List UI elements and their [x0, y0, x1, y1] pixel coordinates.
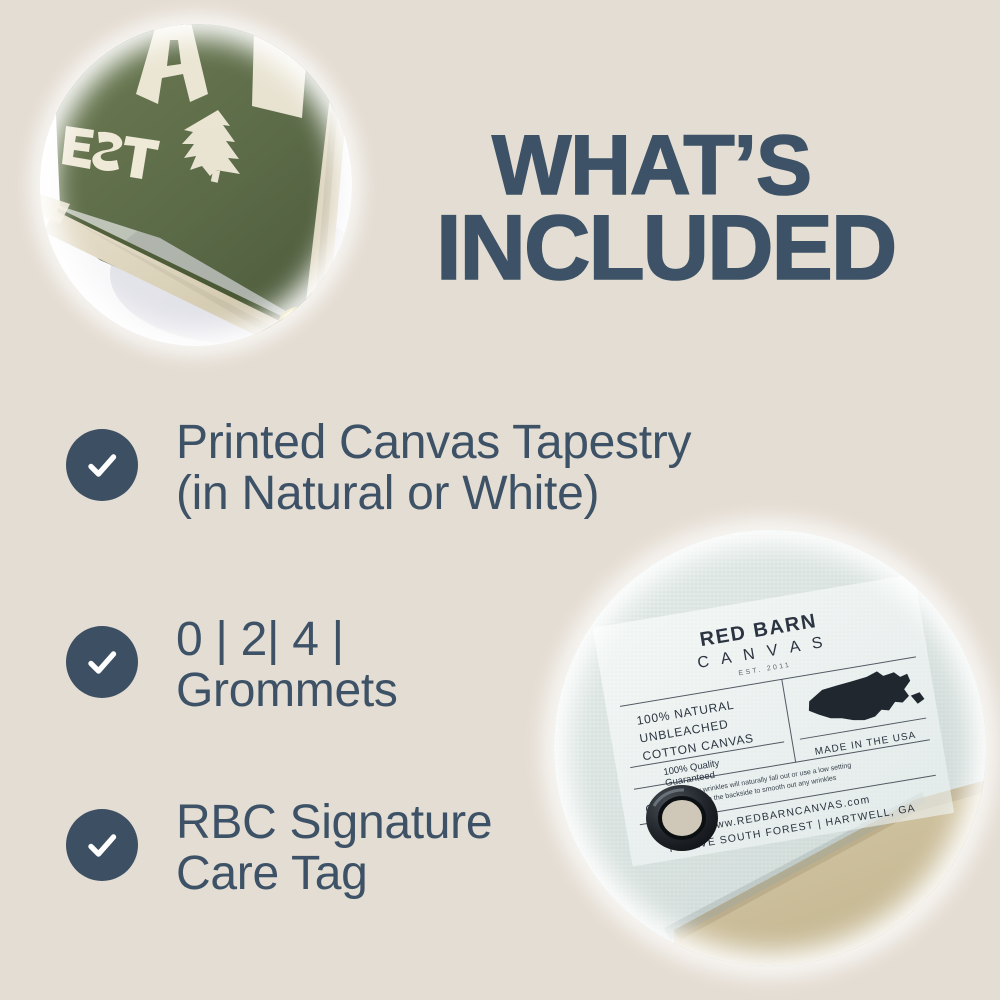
feature-label: Printed Canvas Tapestry (in Natural or W… — [176, 415, 691, 520]
care-tag-illustration: RED BARN C A N V A S EST. 2011 100% NATU… — [554, 530, 986, 966]
feature-label: 0 | 2| 4 | Grommets — [176, 612, 398, 717]
care-tag-photo: RED BARN C A N V A S EST. 2011 100% NATU… — [554, 530, 986, 966]
page-title-line-2: INCLUDED — [430, 205, 930, 291]
page-title-line-1: WHAT’S — [430, 126, 930, 205]
check-circle-icon — [66, 809, 138, 881]
page-title: WHAT’S INCLUDED — [430, 126, 930, 291]
check-circle-icon — [66, 626, 138, 698]
check-circle-icon — [66, 429, 138, 501]
feature-item-rbc-signature-care-tag: RBC Signature Care Tag — [66, 795, 492, 900]
tapestry-corner-illustration — [40, 24, 352, 346]
feature-item-grommets: 0 | 2| 4 | Grommets — [66, 612, 398, 717]
promo-graphic-canvas: WHAT’S INCLUDED Printed Canvas Tapestry … — [0, 0, 1000, 1000]
tapestry-corner-photo — [40, 24, 352, 346]
grommet-icon — [646, 785, 718, 851]
feature-label: RBC Signature Care Tag — [176, 795, 492, 900]
feature-item-printed-canvas-tapestry: Printed Canvas Tapestry (in Natural or W… — [66, 415, 691, 520]
